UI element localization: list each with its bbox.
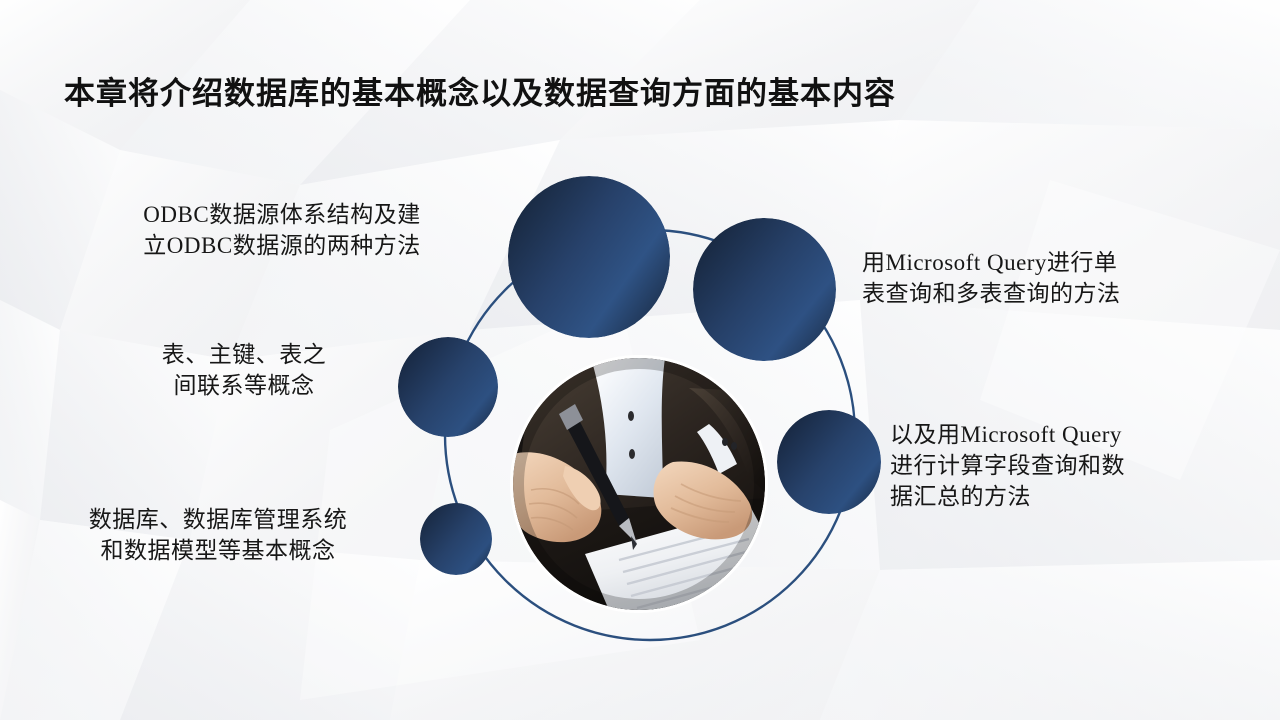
callout-label-table-keys: 表、主键、表之 间联系等概念 (110, 340, 378, 402)
signing-document-photo (513, 358, 765, 610)
callout-line: 用Microsoft Query进行单 (862, 248, 1244, 279)
callout-line: 间联系等概念 (110, 371, 378, 402)
callout-line: 立ODBC数据源的两种方法 (96, 231, 468, 262)
callout-line: 进行计算字段查询和数 (890, 451, 1250, 482)
center-photo (513, 358, 765, 610)
callout-label-msquery-single: 用Microsoft Query进行单 表查询和多表查询的方法 (862, 248, 1244, 310)
callout-label-odbc: ODBC数据源体系结构及建 立ODBC数据源的两种方法 (96, 200, 468, 262)
callout-line: ODBC数据源体系结构及建 (96, 200, 468, 231)
callout-line: 和数据模型等基本概念 (22, 536, 414, 567)
diagram-node-msquery-single[interactable] (693, 218, 836, 361)
callout-line: 表、主键、表之 (110, 340, 378, 371)
callout-line: 数据库、数据库管理系统 (22, 505, 414, 536)
callout-label-msquery-calc: 以及用Microsoft Query 进行计算字段查询和数 据汇总的方法 (890, 420, 1250, 512)
callout-line: 据汇总的方法 (890, 482, 1250, 513)
callout-label-dbms-concepts: 数据库、数据库管理系统 和数据模型等基本概念 (22, 505, 414, 567)
callout-line: 以及用Microsoft Query (890, 420, 1250, 451)
diagram-node-dbms-concepts[interactable] (420, 503, 492, 575)
diagram-node-odbc[interactable] (508, 176, 670, 338)
diagram-node-msquery-calc[interactable] (777, 410, 881, 514)
diagram-node-table-keys[interactable] (398, 337, 498, 437)
slide-canvas: 本章将介绍数据库的基本概念以及数据查询方面的基本内容 (0, 0, 1280, 720)
callout-line: 表查询和多表查询的方法 (862, 279, 1244, 310)
page-title: 本章将介绍数据库的基本概念以及数据查询方面的基本内容 (64, 68, 896, 113)
